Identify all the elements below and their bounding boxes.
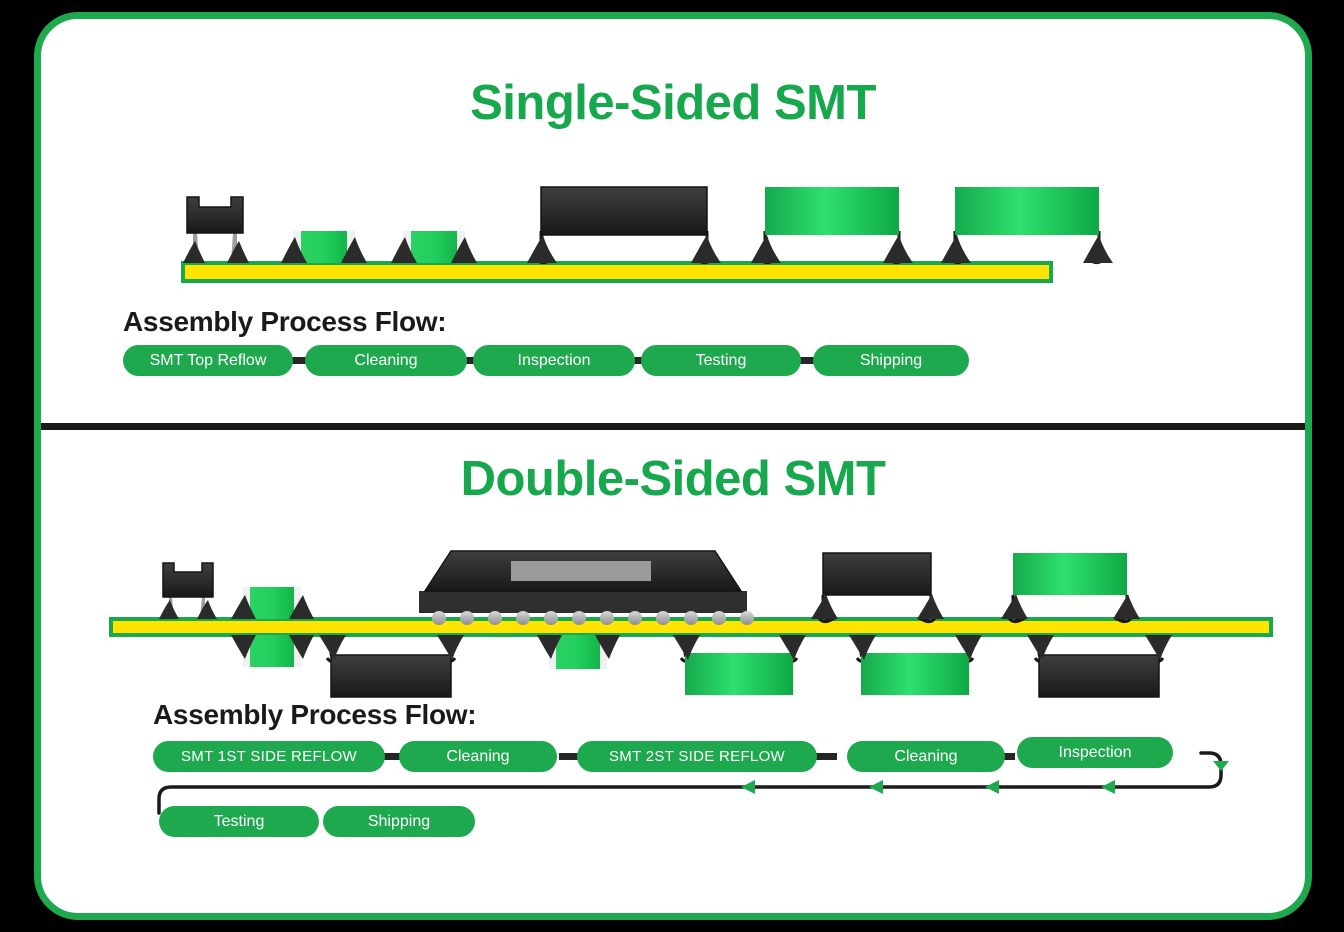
flow-step-smt-top-reflow[interactable]: SMT Top Reflow — [123, 345, 293, 376]
component-ic-dark-1 — [527, 187, 721, 263]
flow-step-shipping[interactable]: Shipping — [323, 806, 475, 837]
component-ic-dark-bottom-1 — [319, 635, 464, 697]
return-arrow-left-icon — [985, 780, 999, 794]
flow-step-cleaning[interactable]: Cleaning — [305, 345, 467, 376]
component-ic-green-2 — [941, 187, 1113, 263]
component-ic-green-1 — [751, 187, 913, 263]
component-chip-resistor-1 — [281, 231, 367, 263]
pcb-board — [183, 263, 1051, 281]
component-chip-resistor-bottom-1 — [231, 635, 314, 667]
component-electrolytic-capacitor — [183, 197, 249, 263]
component-chip-resistor-top — [231, 587, 314, 619]
poster-frame: Single-Sided SMT — [34, 12, 1312, 920]
return-arrow-left-icon — [1101, 780, 1115, 794]
return-arrow-left-icon — [869, 780, 883, 794]
flow-step-cleaning-2[interactable]: Cleaning — [847, 741, 1005, 772]
flow-step-inspection[interactable]: Inspection — [1017, 737, 1173, 768]
double-sided-section: Double-Sided SMT — [41, 421, 1305, 913]
component-ic-dark-top-1 — [811, 553, 944, 622]
flow-step-testing[interactable]: Testing — [159, 806, 319, 837]
return-arrow-down-icon — [1213, 761, 1229, 771]
return-arrow-left-icon — [741, 780, 755, 794]
component-ic-green-bottom-2 — [849, 635, 982, 695]
single-sided-flow-heading: Assembly Process Flow: — [123, 306, 446, 338]
single-sided-board-illustration — [41, 27, 1305, 307]
flow-step-inspection[interactable]: Inspection — [473, 345, 635, 376]
component-ic-green-bottom-1 — [673, 635, 806, 695]
flow-step-smt-1st-side-reflow[interactable]: SMT 1ST SIDE REFLOW — [153, 741, 385, 772]
component-bga-package — [419, 551, 754, 625]
component-chip-resistor-bottom-2 — [537, 635, 620, 669]
component-electrolytic-capacitor — [159, 563, 217, 619]
component-chip-resistor-2 — [391, 231, 477, 263]
flow-step-smt-2st-side-reflow[interactable]: SMT 2ST SIDE REFLOW — [577, 741, 817, 772]
single-sided-section: Single-Sided SMT — [41, 19, 1305, 421]
double-sided-flow-heading: Assembly Process Flow: — [153, 699, 476, 731]
flow-step-shipping[interactable]: Shipping — [813, 345, 969, 376]
component-ic-green-top-1 — [1001, 553, 1140, 622]
flow-step-testing[interactable]: Testing — [641, 345, 801, 376]
component-ic-dark-bottom-2 — [1027, 635, 1172, 697]
double-sided-title: Double-Sided SMT — [41, 421, 1305, 507]
flow-step-cleaning-1[interactable]: Cleaning — [399, 741, 557, 772]
